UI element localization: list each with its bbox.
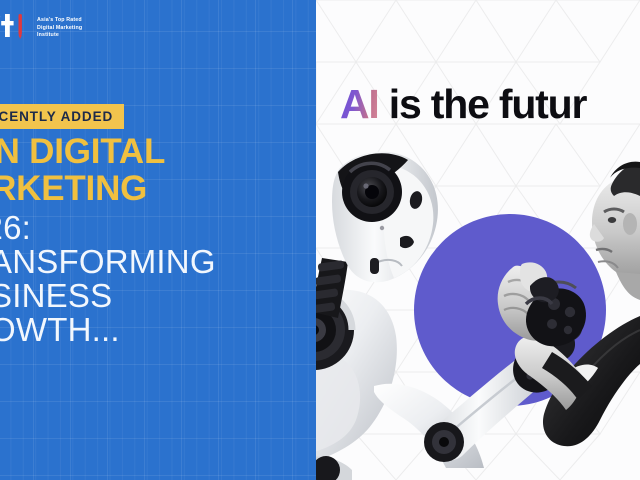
headline-line-3: 026: <box>0 211 316 245</box>
headline-line-5: USINESS <box>0 279 316 313</box>
logo-mark-icon <box>0 10 30 40</box>
ai-accent-word: AI <box>340 81 379 127</box>
logo-tagline: Asia's Top Rated Digital Marketing Insti… <box>37 10 82 40</box>
robot-human-handshake-artwork <box>316 0 640 480</box>
image-heading-rest: is the futur <box>379 81 587 127</box>
brand-logo[interactable]: Asia's Top Rated Digital Marketing Insti… <box>0 10 82 40</box>
image-heading: AI is the futur <box>340 84 586 125</box>
ad-creative-stage: Asia's Top Rated Digital Marketing Insti… <box>0 0 640 480</box>
headline-block: I IN DIGITAL ARKETING 026: RANSFORMING U… <box>0 134 316 347</box>
status-badge-recently-added: RECENTLY ADDED <box>0 104 124 129</box>
headline-line-2: ARKETING <box>0 171 316 207</box>
headline-line-4: RANSFORMING <box>0 245 316 279</box>
right-image-panel: AI is the futur <box>316 0 640 480</box>
headline-line-1: I IN DIGITAL <box>0 134 316 170</box>
clasped-hands <box>498 262 586 346</box>
headline-line-6: ROWTH... <box>0 313 316 347</box>
left-text-panel: Asia's Top Rated Digital Marketing Insti… <box>0 0 316 480</box>
